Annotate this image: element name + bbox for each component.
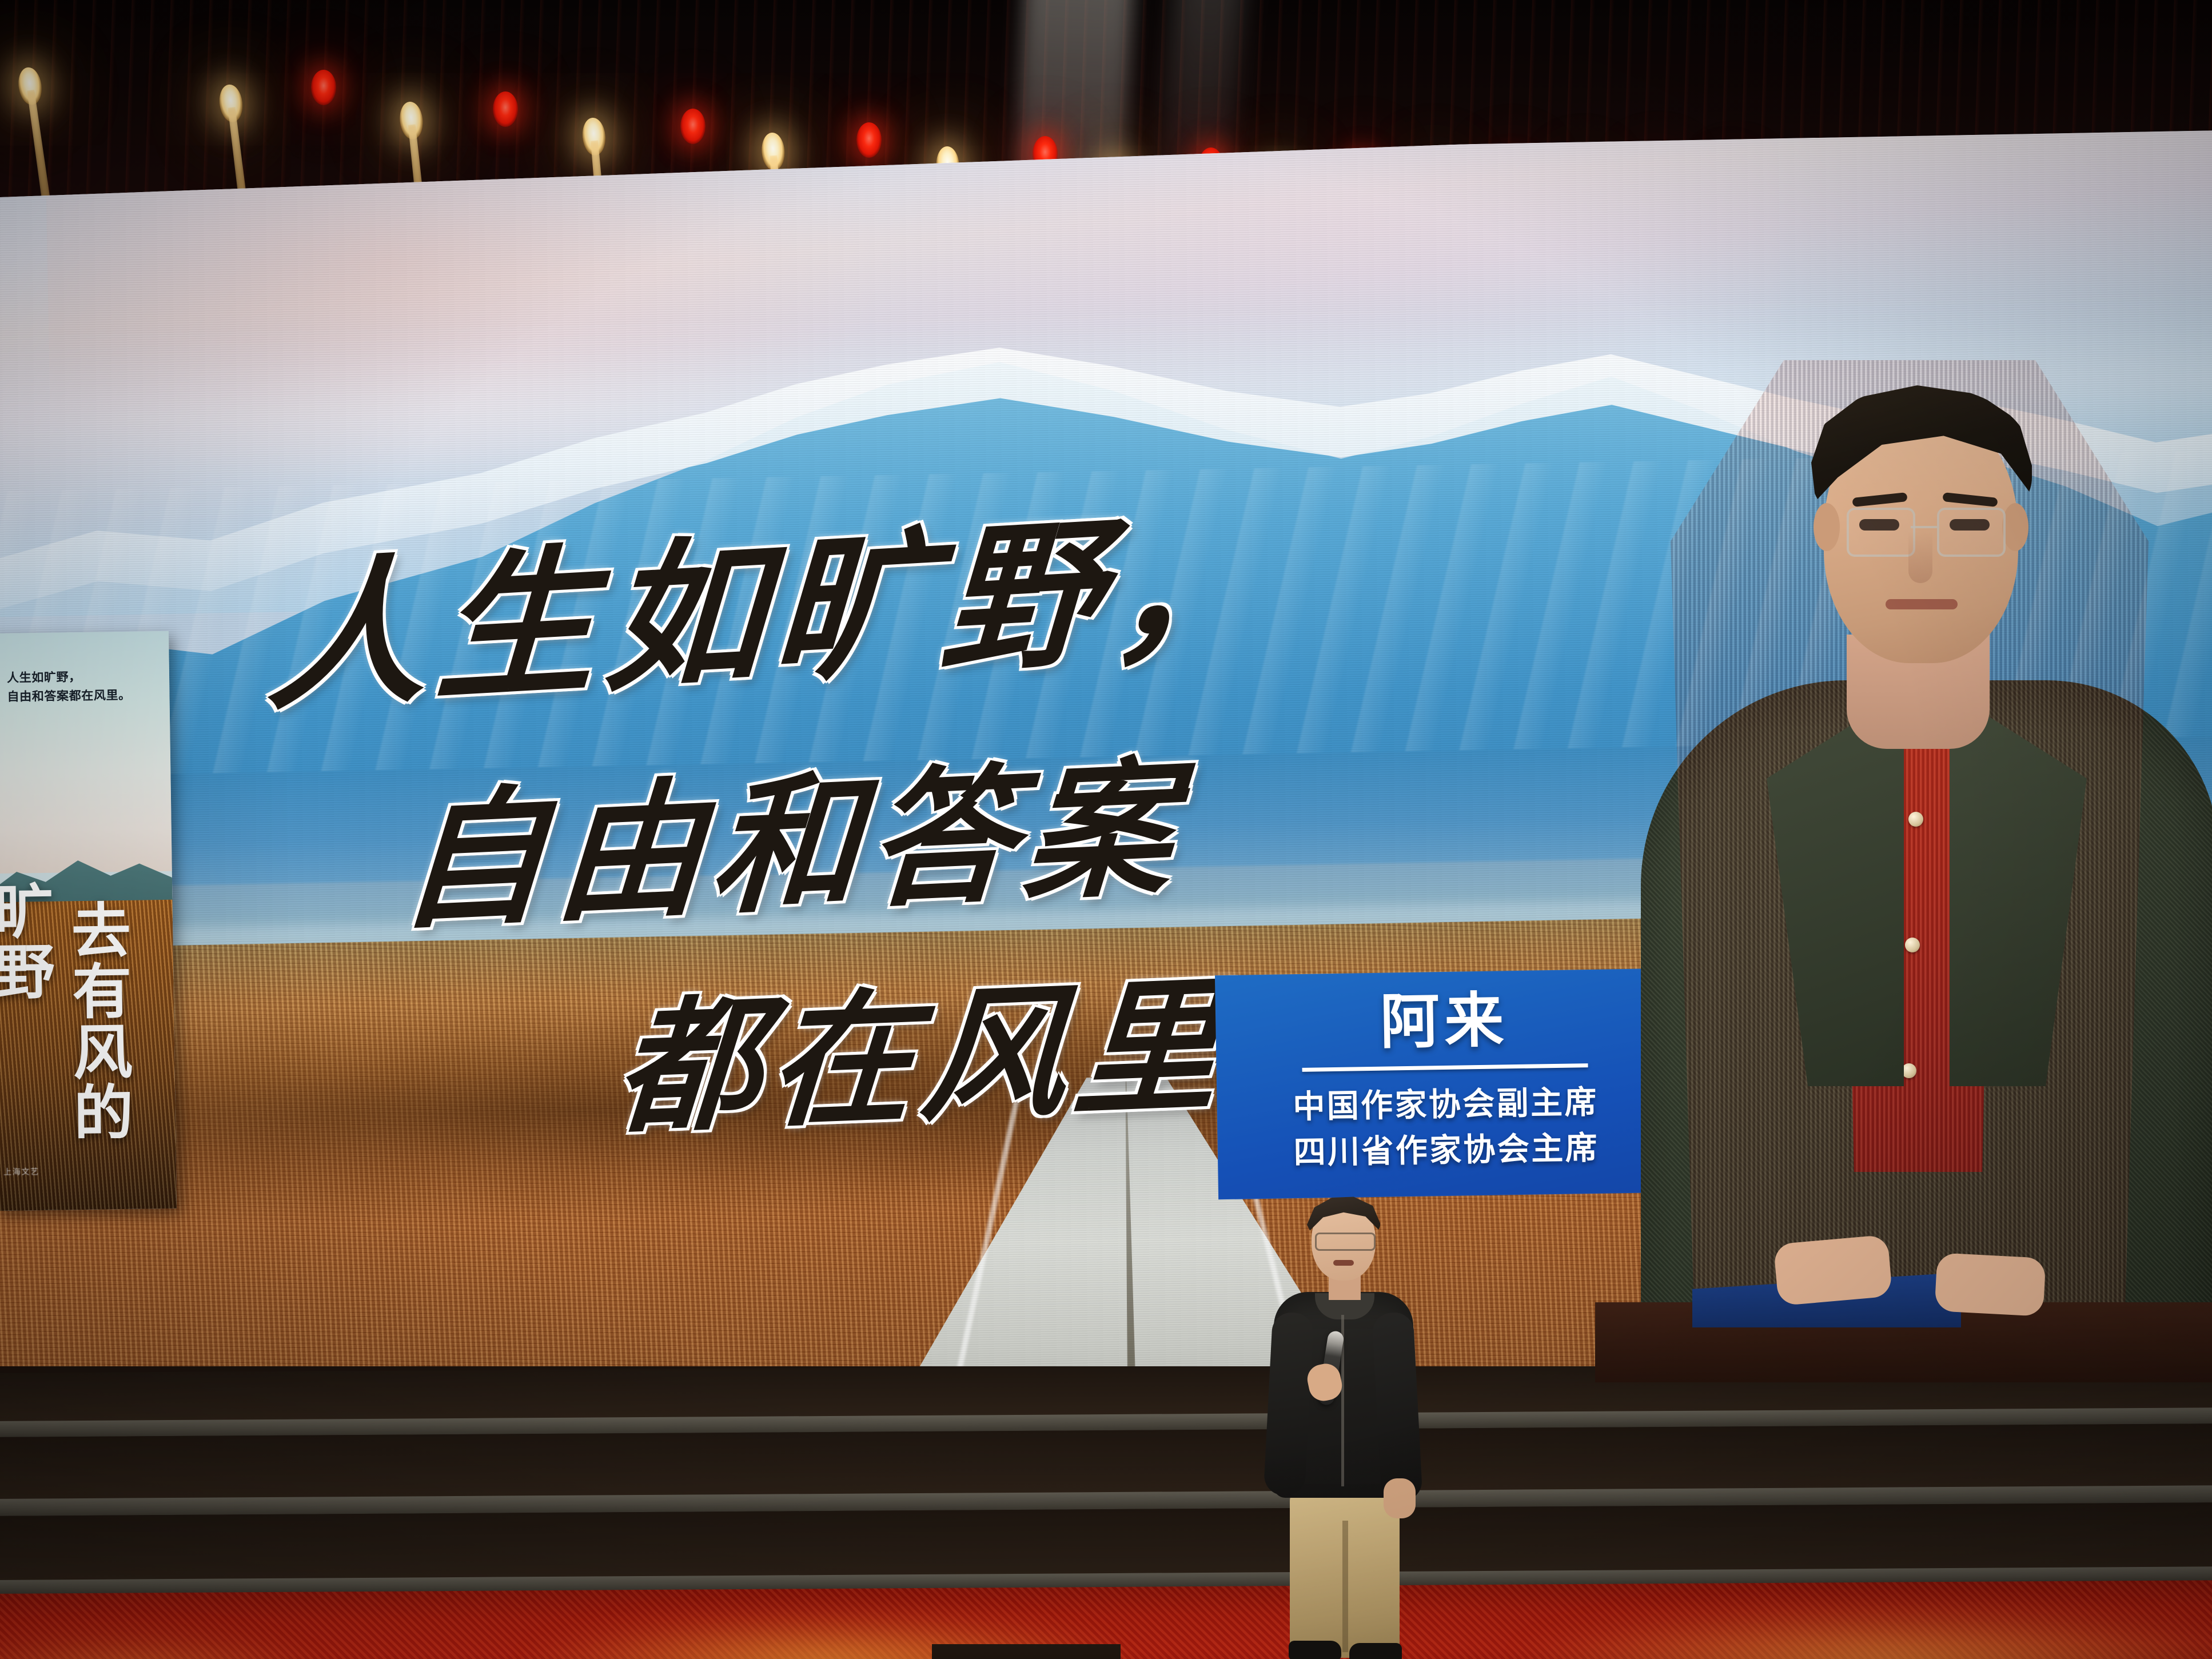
speaker-name: 阿来	[1380, 990, 1509, 1052]
speaker-trouser-seam	[1342, 1521, 1348, 1652]
portrait-shirt-button	[1908, 812, 1923, 827]
portrait-ear-left	[1814, 503, 1840, 551]
stage-photo: 人生如旷野， 自由和答案 都在风里。 阿来 中国作家协会副主席 四川省作家协会主…	[0, 0, 2212, 1659]
speaker-portrait-photo	[1595, 360, 2212, 1366]
stage-floor	[0, 1366, 2212, 1659]
speaker-shoe-left	[1289, 1641, 1341, 1659]
portrait-glasses-lens-left	[1847, 508, 1915, 557]
portrait-ear-right	[2002, 503, 2028, 551]
stage-podium-block	[932, 1644, 1121, 1659]
speaker-hand-free	[1384, 1478, 1416, 1518]
book-tagline: 人生如旷野， 自由和答案都在风里。	[7, 667, 150, 706]
book-title-left-column: 旷野	[0, 880, 50, 1002]
speaker-mouth	[1333, 1260, 1354, 1266]
speaker-title-line-1: 中国作家协会副主席	[1293, 1080, 1599, 1130]
portrait-glasses-lens-right	[1937, 508, 2006, 557]
carpet-light-pool	[0, 1635, 332, 1659]
book-tagline-line-2: 自由和答案都在风里。	[7, 685, 150, 706]
portrait-shirt-button	[1905, 938, 1920, 952]
portrait-hand-right	[1934, 1253, 2046, 1317]
book-cover: 人生如旷野， 自由和答案都在风里。 去有风的 旷野 上海文艺	[0, 631, 177, 1211]
speaker-shoe-right	[1349, 1643, 1402, 1659]
portrait-glasses-bridge	[1911, 526, 1937, 528]
book-title-right-column: 去有风的	[65, 899, 129, 1143]
speaker-title-line-2: 四川省作家协会主席	[1293, 1125, 1599, 1175]
speaker-glasses	[1315, 1233, 1376, 1251]
portrait-nose	[1908, 532, 1932, 583]
calligraphy-line-2: 自由和答案	[394, 708, 1188, 957]
portrait-mouth	[1886, 599, 1958, 609]
book-tagline-line-1: 人生如旷野，	[7, 667, 150, 687]
book-publisher: 上海文艺	[3, 1166, 39, 1178]
portrait-hand-left	[1773, 1234, 1893, 1306]
name-card-divider	[1302, 1063, 1588, 1072]
carpet-light-pool	[1515, 1606, 2212, 1659]
speaker-on-stage	[1248, 1201, 1436, 1658]
